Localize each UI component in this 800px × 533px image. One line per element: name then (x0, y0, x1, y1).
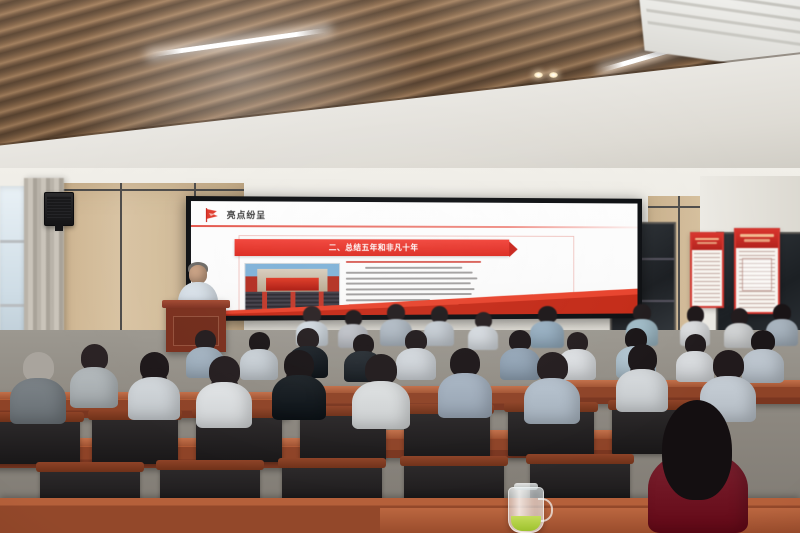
audience-person-26 (352, 354, 410, 422)
slide-text-line-3 (346, 272, 473, 274)
wall-poster-left (690, 232, 724, 308)
teapot-lid (514, 483, 538, 490)
person-torso (128, 377, 180, 420)
slide-header-label: 亮点纷呈 (227, 208, 266, 221)
audience-person-28 (524, 352, 580, 418)
slide-bottom-wave (191, 289, 637, 316)
person-torso (524, 378, 580, 424)
audience-person-23 (128, 352, 180, 414)
spot-pair-1 (534, 72, 560, 80)
person-torso (10, 378, 66, 424)
slide-text-line-1 (346, 261, 481, 263)
slide-text-line-4 (346, 277, 477, 279)
person-torso (70, 367, 118, 408)
foreground-woman-maroon (648, 400, 748, 533)
slide-text-line-5 (346, 282, 471, 284)
audience-person-27 (438, 348, 492, 412)
person-torso (468, 326, 498, 350)
red-flag-icon (203, 207, 221, 224)
foreground-person-hair (662, 400, 732, 500)
wall-poster-right (734, 228, 780, 314)
person-torso (196, 382, 252, 428)
audience-person-25 (272, 350, 326, 414)
person-torso (352, 381, 410, 429)
projection-screen[interactable]: 亮点纷呈 二、总结五年和非凡十年 (186, 196, 642, 321)
audience-person-21 (10, 352, 66, 418)
slide-banner-title: 二、总结五年和非凡十年 (329, 242, 419, 253)
audience-person-5 (468, 312, 498, 346)
person-torso (272, 375, 326, 420)
tea-liquid (511, 516, 541, 531)
presentation-slide: 亮点纷呈 二、总结五年和非凡十年 (191, 201, 637, 316)
audience-person-22 (70, 344, 118, 402)
person-torso (438, 373, 492, 418)
slide-header-rule (191, 225, 637, 228)
slide-banner: 二、总结五年和非凡十年 (235, 239, 510, 256)
glass-teapot[interactable] (508, 487, 544, 533)
audience-person-29 (616, 344, 668, 406)
slide-text-line-2 (365, 266, 462, 268)
audience-person-24 (196, 356, 252, 422)
conference-room-photo: 亮点纷呈 二、总结五年和非凡十年 (0, 0, 800, 533)
wall-speaker-left (44, 192, 74, 226)
chair-back-2 (92, 414, 178, 464)
slide-banner-tail (509, 242, 517, 257)
